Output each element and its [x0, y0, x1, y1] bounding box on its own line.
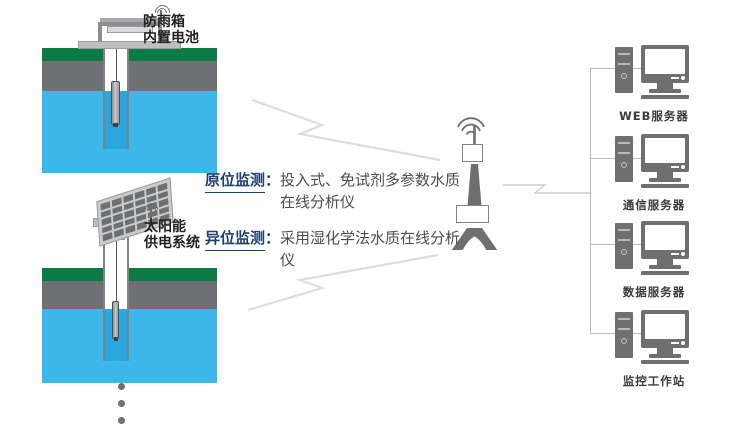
crt-screen [645, 225, 685, 250]
crt-screen [645, 138, 685, 163]
groundwater-layer [42, 91, 217, 173]
keyboard-icon [641, 360, 689, 364]
continuation-dot [118, 417, 125, 424]
solar-cell [114, 229, 124, 238]
annotation-in-situ-value: 投入式、免试剂多参数水质在线分析仪 [280, 170, 460, 214]
pc-power-button-icon[interactable] [621, 249, 627, 255]
pc-power-button-icon[interactable] [621, 73, 627, 79]
annotation-ex-situ-value: 采用湿化学法水质在线分析仪 [280, 228, 460, 272]
crt-stand-base [649, 178, 681, 182]
link-upper-station-to-tower [252, 100, 440, 160]
station-upper-label: 防雨箱 内置电池 [143, 14, 199, 46]
continuation-dot [118, 383, 125, 390]
pc-slot [618, 229, 630, 231]
pc-slot [618, 239, 630, 241]
station-lower-label: 太阳能 供电系统 [144, 219, 200, 251]
node-label-comm-server: 通信服务器 [614, 197, 694, 213]
pc-slot [618, 142, 630, 144]
annotation-ex-situ-colon: ： [265, 228, 280, 250]
groundwater-layer [42, 309, 217, 383]
crt-power-led [681, 341, 685, 345]
soil-layer [42, 61, 217, 91]
node-label-web-server: WEB服务器 [614, 108, 694, 124]
crt-indicator-bar [671, 342, 679, 344]
crt-screen [645, 49, 685, 74]
station-upper [42, 48, 217, 173]
crt-power-led [681, 165, 685, 169]
solar-cell [103, 232, 113, 241]
keyboard-icon [641, 95, 689, 99]
crt-power-led [681, 252, 685, 256]
continuation-dot [118, 400, 125, 407]
pc-slot [618, 152, 630, 154]
annotation-in-situ: 原位监测 ： 投入式、免试剂多参数水质在线分析仪 [205, 170, 460, 214]
solar-cell [125, 225, 135, 234]
diagram-canvas: 防雨箱 内置电池 [0, 0, 750, 440]
annotation-ex-situ: 异位监测 ： 采用湿化学法水质在线分析仪 [205, 228, 460, 272]
pc-slot [618, 318, 630, 320]
grass-layer [42, 268, 217, 281]
crt-indicator-bar [671, 253, 679, 255]
node-label-data-server: 数据服务器 [614, 284, 694, 300]
antenna-dot-icon [150, 214, 153, 217]
annotation-in-situ-key: 原位监测 [205, 170, 265, 193]
crt-indicator-bar [671, 166, 679, 168]
tower-band-upper [462, 144, 483, 162]
crt-stand-base [649, 354, 681, 358]
keyboard-icon [641, 184, 689, 188]
grass-layer [42, 48, 217, 61]
wifi-signal-icon [448, 105, 494, 135]
water-quality-probe [111, 81, 120, 125]
probe-cable [116, 46, 117, 82]
station-lower [42, 268, 217, 383]
probe-tip [113, 123, 118, 127]
keyboard-icon [641, 271, 689, 275]
node-label-monitor-workstation: 监控工作站 [614, 373, 694, 389]
crt-indicator-bar [671, 77, 679, 79]
water-quality-probe [112, 301, 119, 339]
probe-tip [114, 337, 118, 341]
pc-power-button-icon[interactable] [621, 162, 627, 168]
crt-screen [645, 314, 685, 339]
soil-layer [42, 281, 217, 309]
annotation-in-situ-colon: ： [265, 170, 280, 192]
pc-slot [618, 328, 630, 330]
pc-slot [618, 53, 630, 55]
crt-stand-base [649, 265, 681, 269]
pc-slot [618, 63, 630, 65]
crt-power-led [681, 76, 685, 80]
network-bus-vertical [590, 68, 591, 333]
pc-power-button-icon[interactable] [621, 338, 627, 344]
tower-band-lower [456, 205, 489, 223]
annotation-ex-situ-key: 异位监测 [205, 228, 265, 251]
crt-stand-base [649, 89, 681, 93]
